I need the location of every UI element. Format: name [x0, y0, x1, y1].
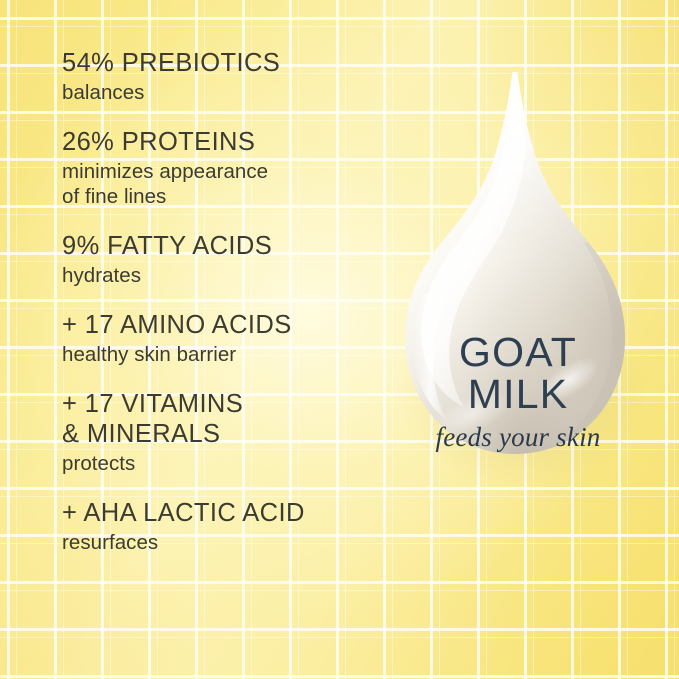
ingredient-title: 26% PROTEINS — [62, 127, 377, 157]
milk-droplet-icon — [384, 62, 646, 548]
ingredient-benefit: healthy skin barrier — [62, 342, 377, 367]
ingredient-benefit: hydrates — [62, 263, 377, 288]
ingredient-title: + AHA LACTIC ACID — [62, 498, 377, 528]
list-item: 54% PREBIOTICS balances — [62, 48, 377, 105]
list-item: + 17 AMINO ACIDS healthy skin barrier — [62, 310, 377, 367]
ingredient-benefit: balances — [62, 80, 377, 105]
ingredient-title: 54% PREBIOTICS — [62, 48, 377, 78]
ingredient-benefit: minimizes appearance of fine lines — [62, 159, 377, 209]
list-item: 9% FATTY ACIDS hydrates — [62, 231, 377, 288]
ingredient-benefit: resurfaces — [62, 530, 377, 555]
list-item: + 17 VITAMINS & MINERALS protects — [62, 389, 377, 476]
ingredient-list: 54% PREBIOTICS balances 26% PROTEINS min… — [62, 48, 377, 555]
ingredient-benefit: protects — [62, 451, 377, 476]
list-item: + AHA LACTIC ACID resurfaces — [62, 498, 377, 555]
ingredient-title: 9% FATTY ACIDS — [62, 231, 377, 261]
ingredient-title: + 17 VITAMINS & MINERALS — [62, 389, 377, 449]
list-item: 26% PROTEINS minimizes appearance of fin… — [62, 127, 377, 209]
goat-milk-infographic-poster: 54% PREBIOTICS balances 26% PROTEINS min… — [0, 0, 679, 679]
ingredient-title: + 17 AMINO ACIDS — [62, 310, 377, 340]
